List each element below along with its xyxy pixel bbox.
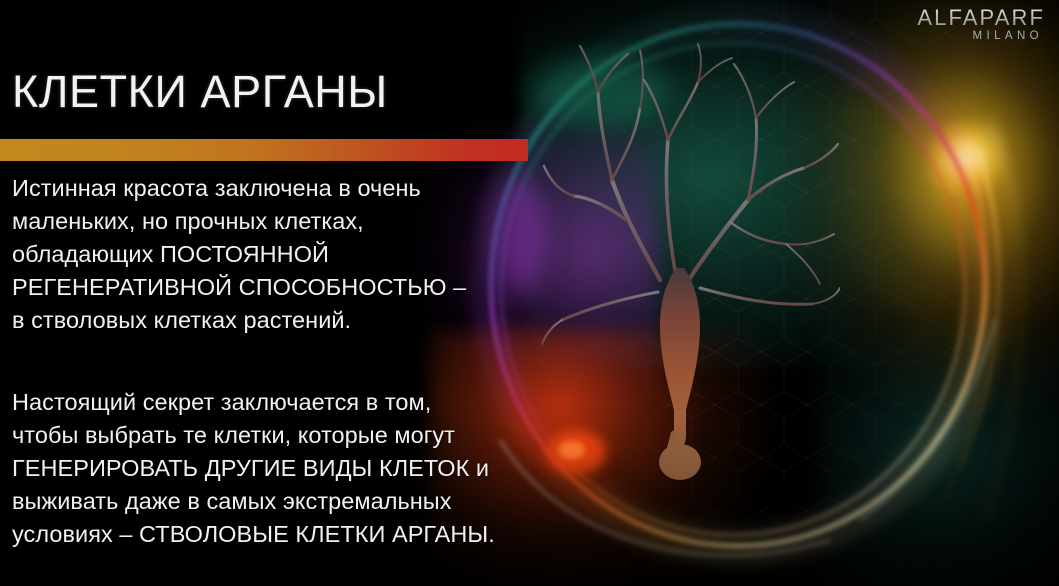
brand-logo-name: ALFAPARF — [917, 6, 1045, 29]
body-paragraph-1: Истинная красота заключена в очень мален… — [12, 172, 552, 337]
accent-divider-bar — [0, 139, 528, 161]
brand-logo: ALFAPARF MILANO — [917, 6, 1045, 43]
page-title: КЛЕТКИ АРГАНЫ — [12, 66, 388, 118]
presentation-slide: КЛЕТКИ АРГАНЫ Истинная красота заключена… — [0, 0, 1059, 586]
body-paragraph-2: Настоящий секрет заключается в том, чтоб… — [12, 386, 592, 551]
brand-logo-city: MILANO — [917, 30, 1043, 43]
